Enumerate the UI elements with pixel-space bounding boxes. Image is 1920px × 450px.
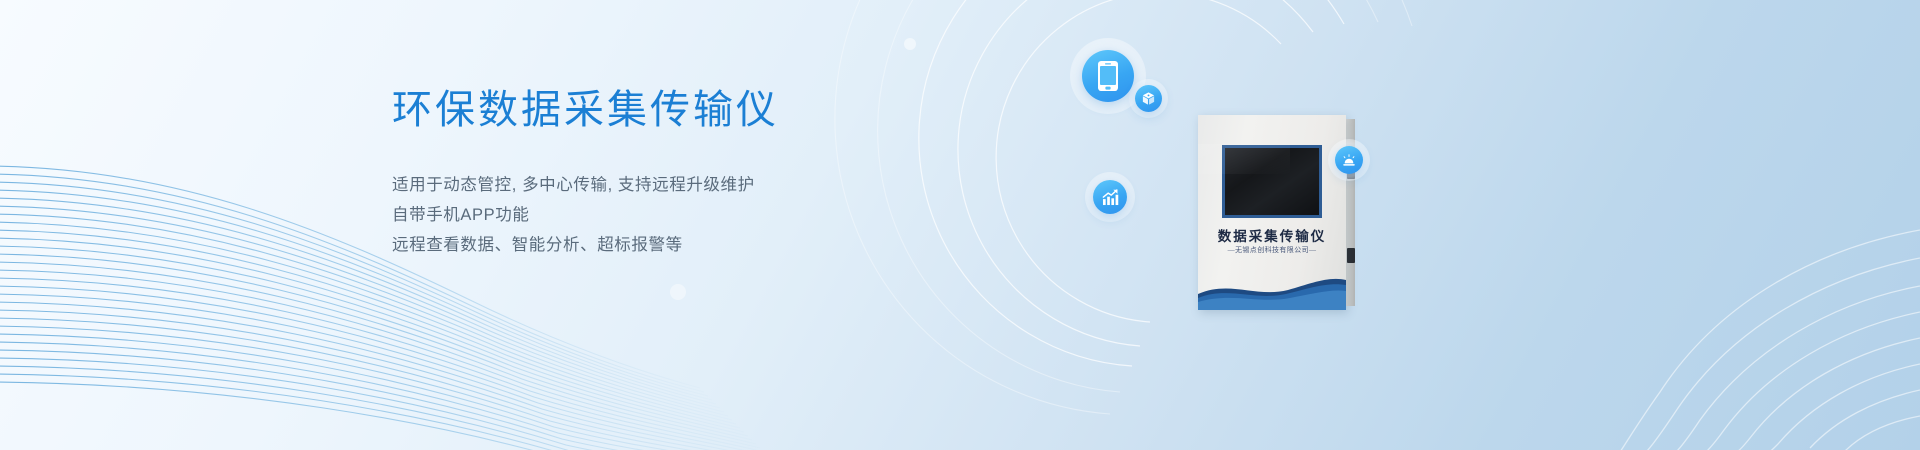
alarm-icon[interactable] (1335, 146, 1363, 174)
chart-icon[interactable] (1093, 180, 1127, 214)
device-label-company: —无锡点创科技有限公司— (1198, 245, 1346, 255)
decorative-dot (904, 38, 916, 50)
subtitle-line-1: 适用于动态管控, 多中心传输, 支持远程升级维护 (392, 170, 1012, 200)
subtitle-line-2: 自带手机APP功能 (392, 200, 1012, 230)
subtitle-line-3: 远程查看数据、智能分析、超标报警等 (392, 230, 1012, 260)
subtitle-list: 适用于动态管控, 多中心传输, 支持远程升级维护 自带手机APP功能 远程查看数… (392, 170, 1012, 260)
hero-text-block: 环保数据采集传输仪 适用于动态管控, 多中心传输, 支持远程升级维护 自带手机A… (392, 86, 1012, 260)
decorative-dot (670, 284, 686, 300)
device-wave-graphic (1198, 268, 1346, 310)
device-latch-icon (1347, 248, 1355, 263)
page-title: 环保数据采集传输仪 (392, 86, 1012, 134)
box-icon[interactable] (1135, 85, 1162, 112)
device-screen-glare (1198, 144, 1290, 174)
device-label-title: 数据采集传输仪 (1198, 225, 1346, 245)
hero-banner: 环保数据采集传输仪 适用于动态管控, 多中心传输, 支持远程升级维护 自带手机A… (0, 0, 1920, 450)
phone-icon[interactable] (1082, 50, 1134, 102)
